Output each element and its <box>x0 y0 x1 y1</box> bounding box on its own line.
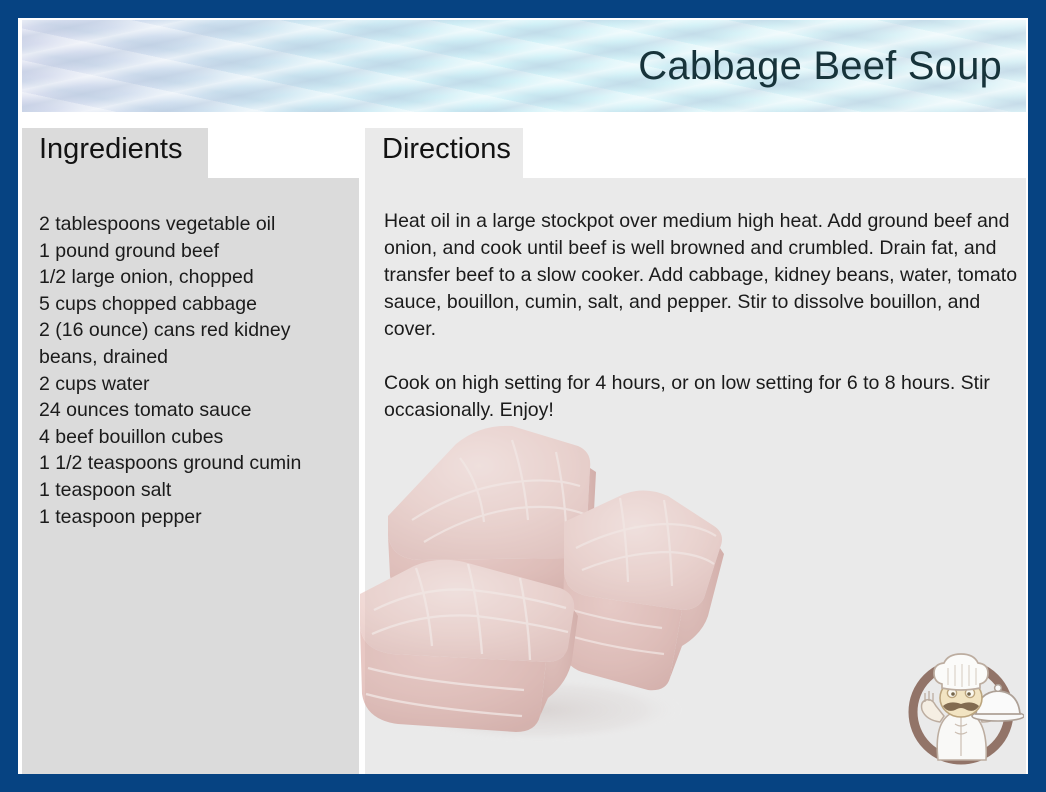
ingredients-column: Ingredients 2 tablespoons vegetable oil … <box>22 128 359 774</box>
chef-hat-icon <box>934 654 988 690</box>
ingredients-heading: Ingredients <box>39 135 183 164</box>
list-item: 1 teaspoon salt <box>39 477 347 504</box>
chef-body <box>937 714 986 760</box>
list-item: 4 beef bouillon cubes <box>39 424 347 451</box>
list-item: 1 1/2 teaspoons ground cumin <box>39 450 347 477</box>
directions-text: Heat oil in a large stockpot over medium… <box>384 208 1020 424</box>
list-item: 5 cups chopped cabbage <box>39 291 347 318</box>
page-title: Cabbage Beef Soup <box>638 45 1002 87</box>
list-item: 2 (16 ounce) cans red kidney beans, drai… <box>39 317 347 370</box>
list-item: 2 cups water <box>39 371 347 398</box>
recipe-slide: Cabbage Beef Soup Ingredients 2 tablespo… <box>0 0 1046 792</box>
directions-paragraph: Heat oil in a large stockpot over medium… <box>384 208 1020 343</box>
title-banner: Cabbage Beef Soup <box>22 20 1026 112</box>
slide-page: Cabbage Beef Soup Ingredients 2 tablespo… <box>18 18 1028 774</box>
chef-mascot-logo <box>898 644 1024 770</box>
list-item: 24 ounces tomato sauce <box>39 397 347 424</box>
ingredients-list: 2 tablespoons vegetable oil 1 pound grou… <box>39 211 347 530</box>
list-item: 1/2 large onion, chopped <box>39 264 347 291</box>
list-item: 1 pound ground beef <box>39 238 347 265</box>
ingredients-heading-notch <box>208 128 359 178</box>
directions-heading-notch <box>523 128 1026 178</box>
directions-paragraph: Cook on high setting for 4 hours, or on … <box>384 370 1020 424</box>
cloche-icon <box>976 691 1020 714</box>
list-item: 1 teaspoon pepper <box>39 504 347 531</box>
directions-heading: Directions <box>382 135 511 164</box>
list-item: 2 tablespoons vegetable oil <box>39 211 347 238</box>
